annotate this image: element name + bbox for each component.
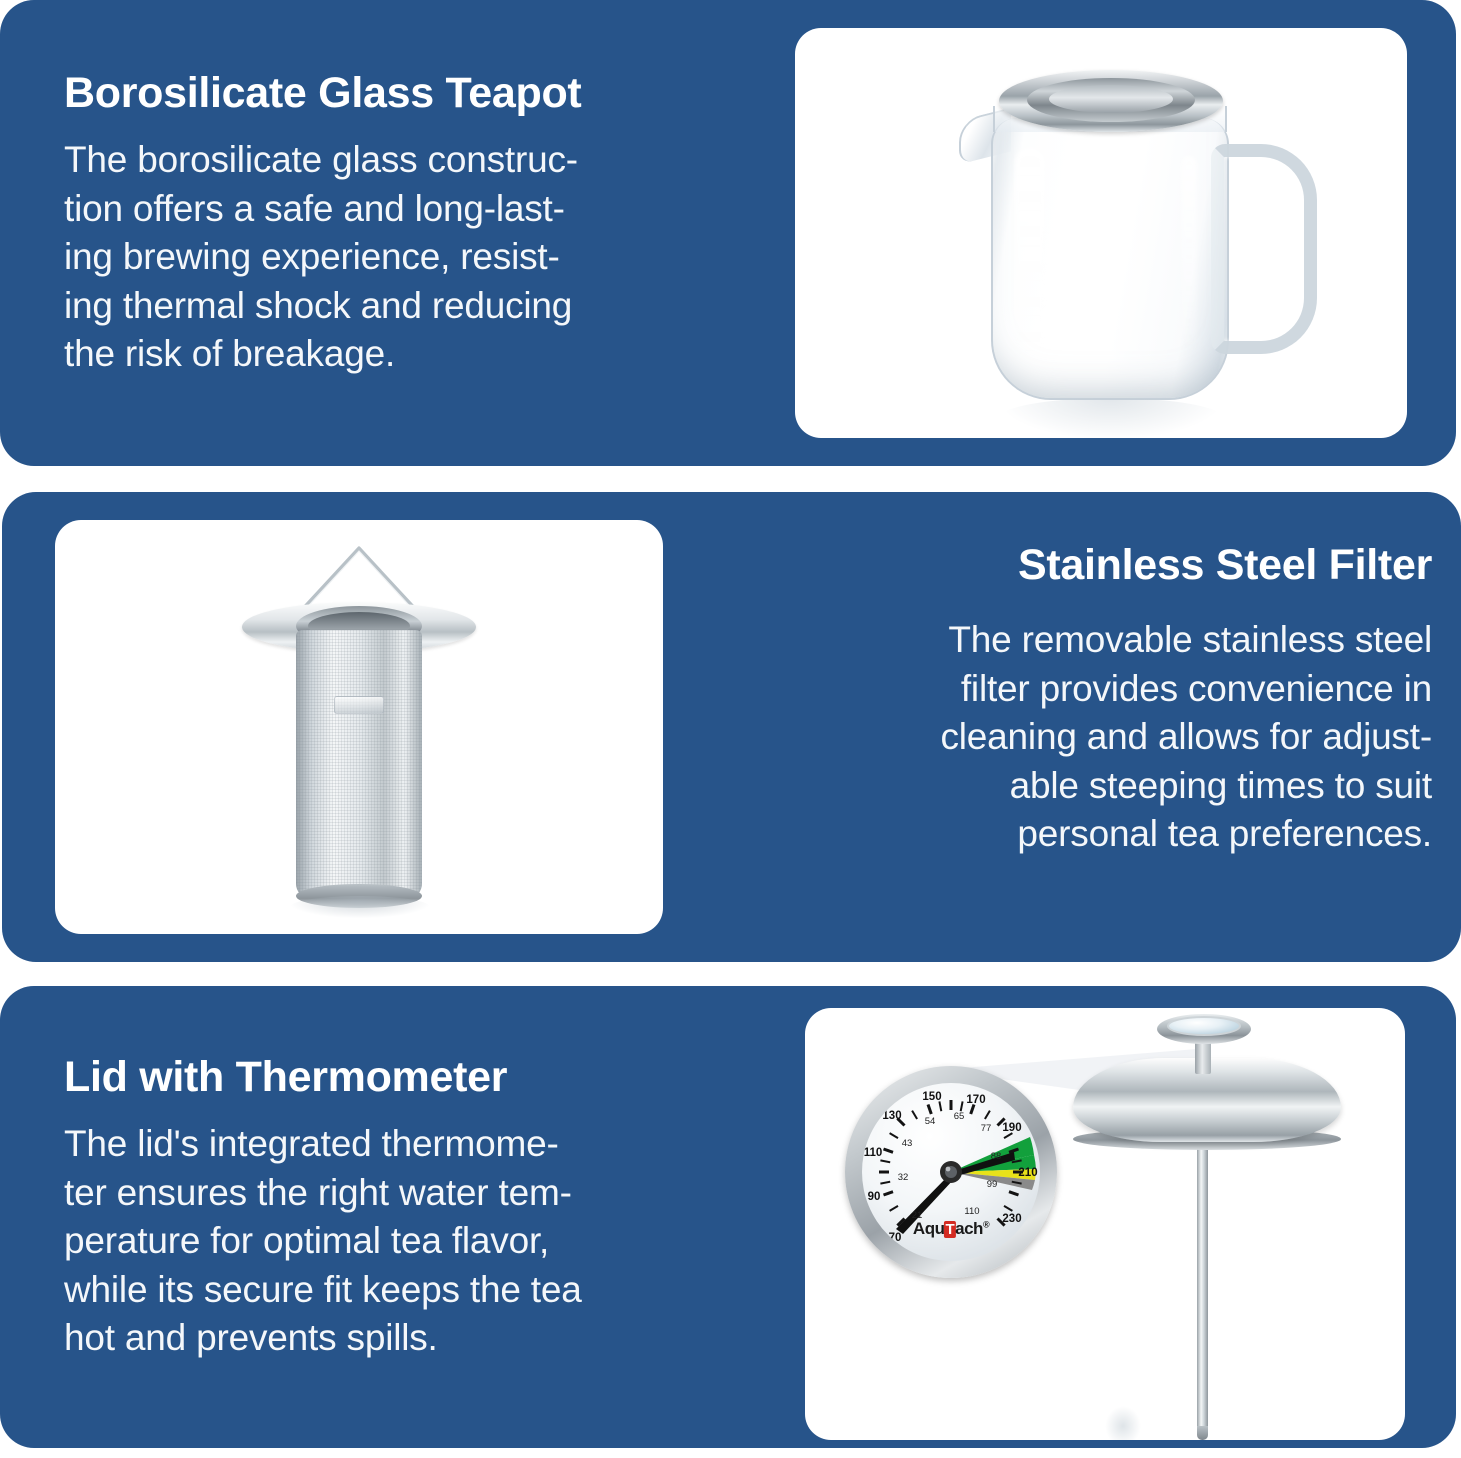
filter-illustration [55,520,663,934]
feature-panel-lid-thermometer: Lid with Thermometer The lid's integrate… [0,986,1456,1448]
thermometer-gauge: 70 90 110 130 150 170 190 210 230 [845,1066,1057,1278]
thermometer-probe [1197,1144,1208,1434]
feature-body-filter: The removable stainless steel filter pro… [742,616,1432,859]
body-line: while its secure fit keeps the tea [64,1266,764,1315]
svg-text:65: 65 [954,1111,965,1122]
body-line: filter provides convenience in [742,665,1432,714]
product-image-card-filter [55,520,663,934]
lid-thermometer-illustration: 70 90 110 130 150 170 190 210 230 [805,1008,1405,1440]
feature-title-teapot: Borosilicate Glass Teapot [64,68,764,118]
svg-text:110: 110 [964,1206,979,1217]
body-line: ing thermal shock and reducing [64,282,764,331]
thermometer-brand-logo: AquTach® [913,1219,989,1239]
feature-text-block-lid: Lid with Thermometer The lid's integrate… [64,1052,764,1363]
body-line: the risk of breakage. [64,330,764,379]
thermometer-probe-tip [1197,1426,1208,1440]
product-feature-infographic: Borosilicate Glass Teapot The borosilica… [0,0,1461,1458]
body-line: personal tea preferences. [742,810,1432,859]
svg-text:43: 43 [902,1138,913,1149]
svg-text:77: 77 [981,1123,992,1134]
feature-body-lid: The lid's integrated thermome- ter ensur… [64,1120,764,1363]
svg-text:88: 88 [991,1151,1002,1162]
thermometer-small-dial [1167,1016,1241,1036]
filter-mesh-cylinder [296,630,422,898]
brand-prefix: Aqu [913,1219,945,1238]
product-image-card-teapot [795,28,1407,438]
body-line: ing brewing experience, resist- [64,233,764,282]
body-line: The borosilicate glass construc- [64,136,764,185]
body-line: tion offers a safe and long-last- [64,185,764,234]
filter-shadow [290,896,430,918]
teapot-steel-lid-center [1049,85,1173,113]
teapot-highlight-right [1181,156,1197,346]
feature-body-teapot: The borosilicate glass construc- tion of… [64,136,764,379]
body-line: perature for optimal tea flavor, [64,1217,764,1266]
svg-text:99: 99 [987,1179,998,1190]
lid-shadow [1105,1406,1141,1440]
body-line: hot and prevents spills. [64,1314,764,1363]
body-line: ter ensures the right water tem- [64,1169,764,1218]
feature-text-block-teapot: Borosilicate Glass Teapot The borosilica… [64,68,764,379]
feature-panel-filter: Stainless Steel Filter The removable sta… [2,492,1461,962]
body-line: able steeping times to suit [742,762,1432,811]
feature-title-lid: Lid with Thermometer [64,1052,764,1102]
registered-trademark-icon: ® [983,1219,989,1229]
svg-text:54: 54 [925,1116,936,1127]
teapot-illustration [795,28,1407,438]
body-line: cleaning and allows for adjust- [742,713,1432,762]
feature-title-filter: Stainless Steel Filter [742,540,1432,590]
teapot-reflection [997,398,1225,438]
brand-suffix: ach [955,1219,983,1238]
teapot-highlight-left [1015,148,1045,358]
feature-text-block-filter: Stainless Steel Filter The removable sta… [742,540,1432,859]
teapot-handle [1211,144,1317,354]
product-image-card-lid: 70 90 110 130 150 170 190 210 230 [805,1008,1405,1440]
body-line: The removable stainless steel [742,616,1432,665]
body-line: The lid's integrated thermome- [64,1120,764,1169]
svg-text:32: 32 [898,1172,909,1183]
feature-panel-teapot: Borosilicate Glass Teapot The borosilica… [0,0,1456,466]
filter-brand-badge [334,696,384,714]
